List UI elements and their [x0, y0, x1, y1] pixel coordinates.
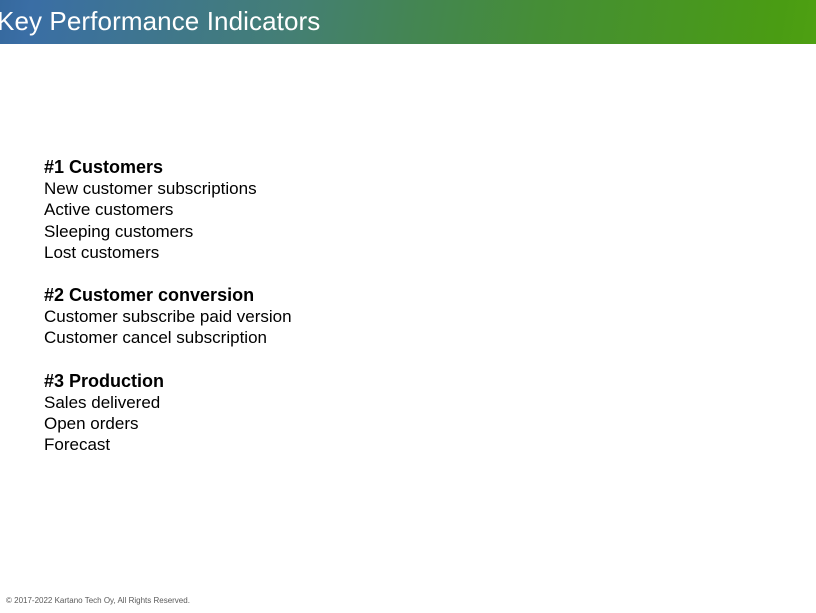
kpi-section-heading: #3 Production — [44, 370, 744, 392]
list-item: Forecast — [44, 434, 744, 455]
footer-copyright-text: © 2017-2022 Kartano Tech Oy, All Rights … — [6, 595, 190, 606]
list-item: Lost customers — [44, 242, 744, 263]
kpi-content-body: #1 Customers New customer subscriptions … — [44, 156, 744, 456]
kpi-section-heading: #1 Customers — [44, 156, 744, 178]
kpi-section-customer-conversion: #2 Customer conversion Customer subscrib… — [44, 284, 744, 349]
list-item: Active customers — [44, 199, 744, 220]
kpi-section-heading: #2 Customer conversion — [44, 284, 744, 306]
kpi-item-list: Customer subscribe paid version Customer… — [44, 306, 744, 349]
list-item: Customer cancel subscription — [44, 327, 744, 348]
list-item: New customer subscriptions — [44, 178, 744, 199]
list-item: Sales delivered — [44, 392, 744, 413]
list-item: Open orders — [44, 413, 744, 434]
page-title: Key Performance Indicators — [0, 5, 320, 38]
kpi-item-list: New customer subscriptions Active custom… — [44, 178, 744, 263]
kpi-section-customers: #1 Customers New customer subscriptions … — [44, 156, 744, 263]
list-item: Sleeping customers — [44, 221, 744, 242]
kpi-item-list: Sales delivered Open orders Forecast — [44, 392, 744, 456]
list-item: Customer subscribe paid version — [44, 306, 744, 327]
kpi-section-production: #3 Production Sales delivered Open order… — [44, 370, 744, 456]
slide-header-band: Key Performance Indicators — [0, 0, 816, 44]
